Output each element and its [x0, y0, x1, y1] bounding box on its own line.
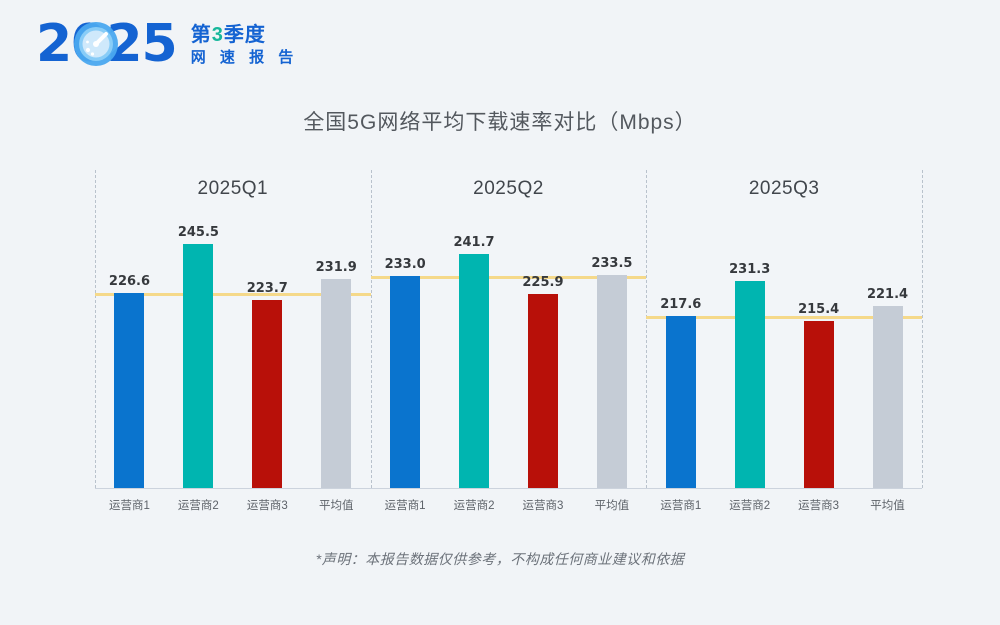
category-label: 运营商3: [784, 497, 854, 513]
bar-value-label: 223.7: [232, 281, 302, 296]
disclaimer-note: *声明：本报告数据仅供参考，不构成任何商业建议和依据: [0, 549, 1000, 569]
category-label: 运营商2: [439, 497, 509, 513]
category-label: 平均值: [853, 497, 923, 513]
speedometer-icon: [73, 21, 119, 67]
bar-value-label: 217.6: [646, 297, 716, 312]
bar-value-label: 233.0: [370, 257, 440, 272]
category-label: 运营商3: [232, 497, 302, 513]
panel-divider: [922, 170, 923, 488]
category-label: 平均值: [577, 497, 647, 513]
bar[interactable]: [390, 276, 420, 488]
bar-chart: 2025Q1226.6运营商1245.5运营商2223.7运营商3231.9平均…: [95, 170, 922, 488]
panel-divider: [95, 170, 96, 488]
category-label: 运营商3: [508, 497, 578, 513]
category-label: 运营商1: [646, 497, 716, 513]
logo-quarter-number: 3: [212, 24, 224, 46]
bar[interactable]: [114, 293, 144, 488]
bar[interactable]: [666, 316, 696, 488]
category-label: 运营商1: [370, 497, 440, 513]
bar[interactable]: [735, 281, 765, 488]
bar[interactable]: [459, 254, 489, 488]
page-title: 全国5G网络平均下载速率对比（Mbps）: [0, 106, 1000, 136]
bar-value-label: 226.6: [94, 274, 164, 289]
panel-title: 2025Q3: [646, 178, 922, 200]
logo-quarter-suffix: 季度: [224, 24, 266, 46]
bar-value-label: 221.4: [853, 287, 923, 302]
bar-value-label: 245.5: [163, 225, 233, 240]
logo-quarter-prefix: 第: [191, 24, 212, 46]
category-label: 平均值: [301, 497, 371, 513]
bar[interactable]: [183, 244, 213, 488]
bar-value-label: 231.9: [301, 260, 371, 275]
bar[interactable]: [528, 294, 558, 488]
bar-value-label: 231.3: [715, 262, 785, 277]
panel-divider: [646, 170, 647, 488]
logo-subtitle: 第3季度 网 速 报 告: [191, 23, 299, 65]
bar[interactable]: [321, 279, 351, 488]
bar-value-label: 241.7: [439, 235, 509, 250]
category-label: 运营商2: [715, 497, 785, 513]
category-label: 运营商1: [94, 497, 164, 513]
bar[interactable]: [873, 306, 903, 488]
logo-year: 2025: [36, 18, 177, 70]
bar[interactable]: [252, 300, 282, 488]
bar[interactable]: [597, 275, 627, 488]
bar[interactable]: [804, 321, 834, 488]
report-logo: 2025 第3季度 网 速 报 告: [36, 18, 298, 70]
panel-divider: [371, 170, 372, 488]
bar-value-label: 215.4: [784, 302, 854, 317]
logo-quarter-line: 第3季度: [191, 25, 299, 45]
bar-value-label: 225.9: [508, 275, 578, 290]
bar-value-label: 233.5: [577, 256, 647, 271]
category-label: 运营商2: [163, 497, 233, 513]
panel-title: 2025Q2: [371, 178, 647, 200]
logo-report-line: 网 速 报 告: [191, 50, 299, 65]
panel-title: 2025Q1: [95, 178, 371, 200]
